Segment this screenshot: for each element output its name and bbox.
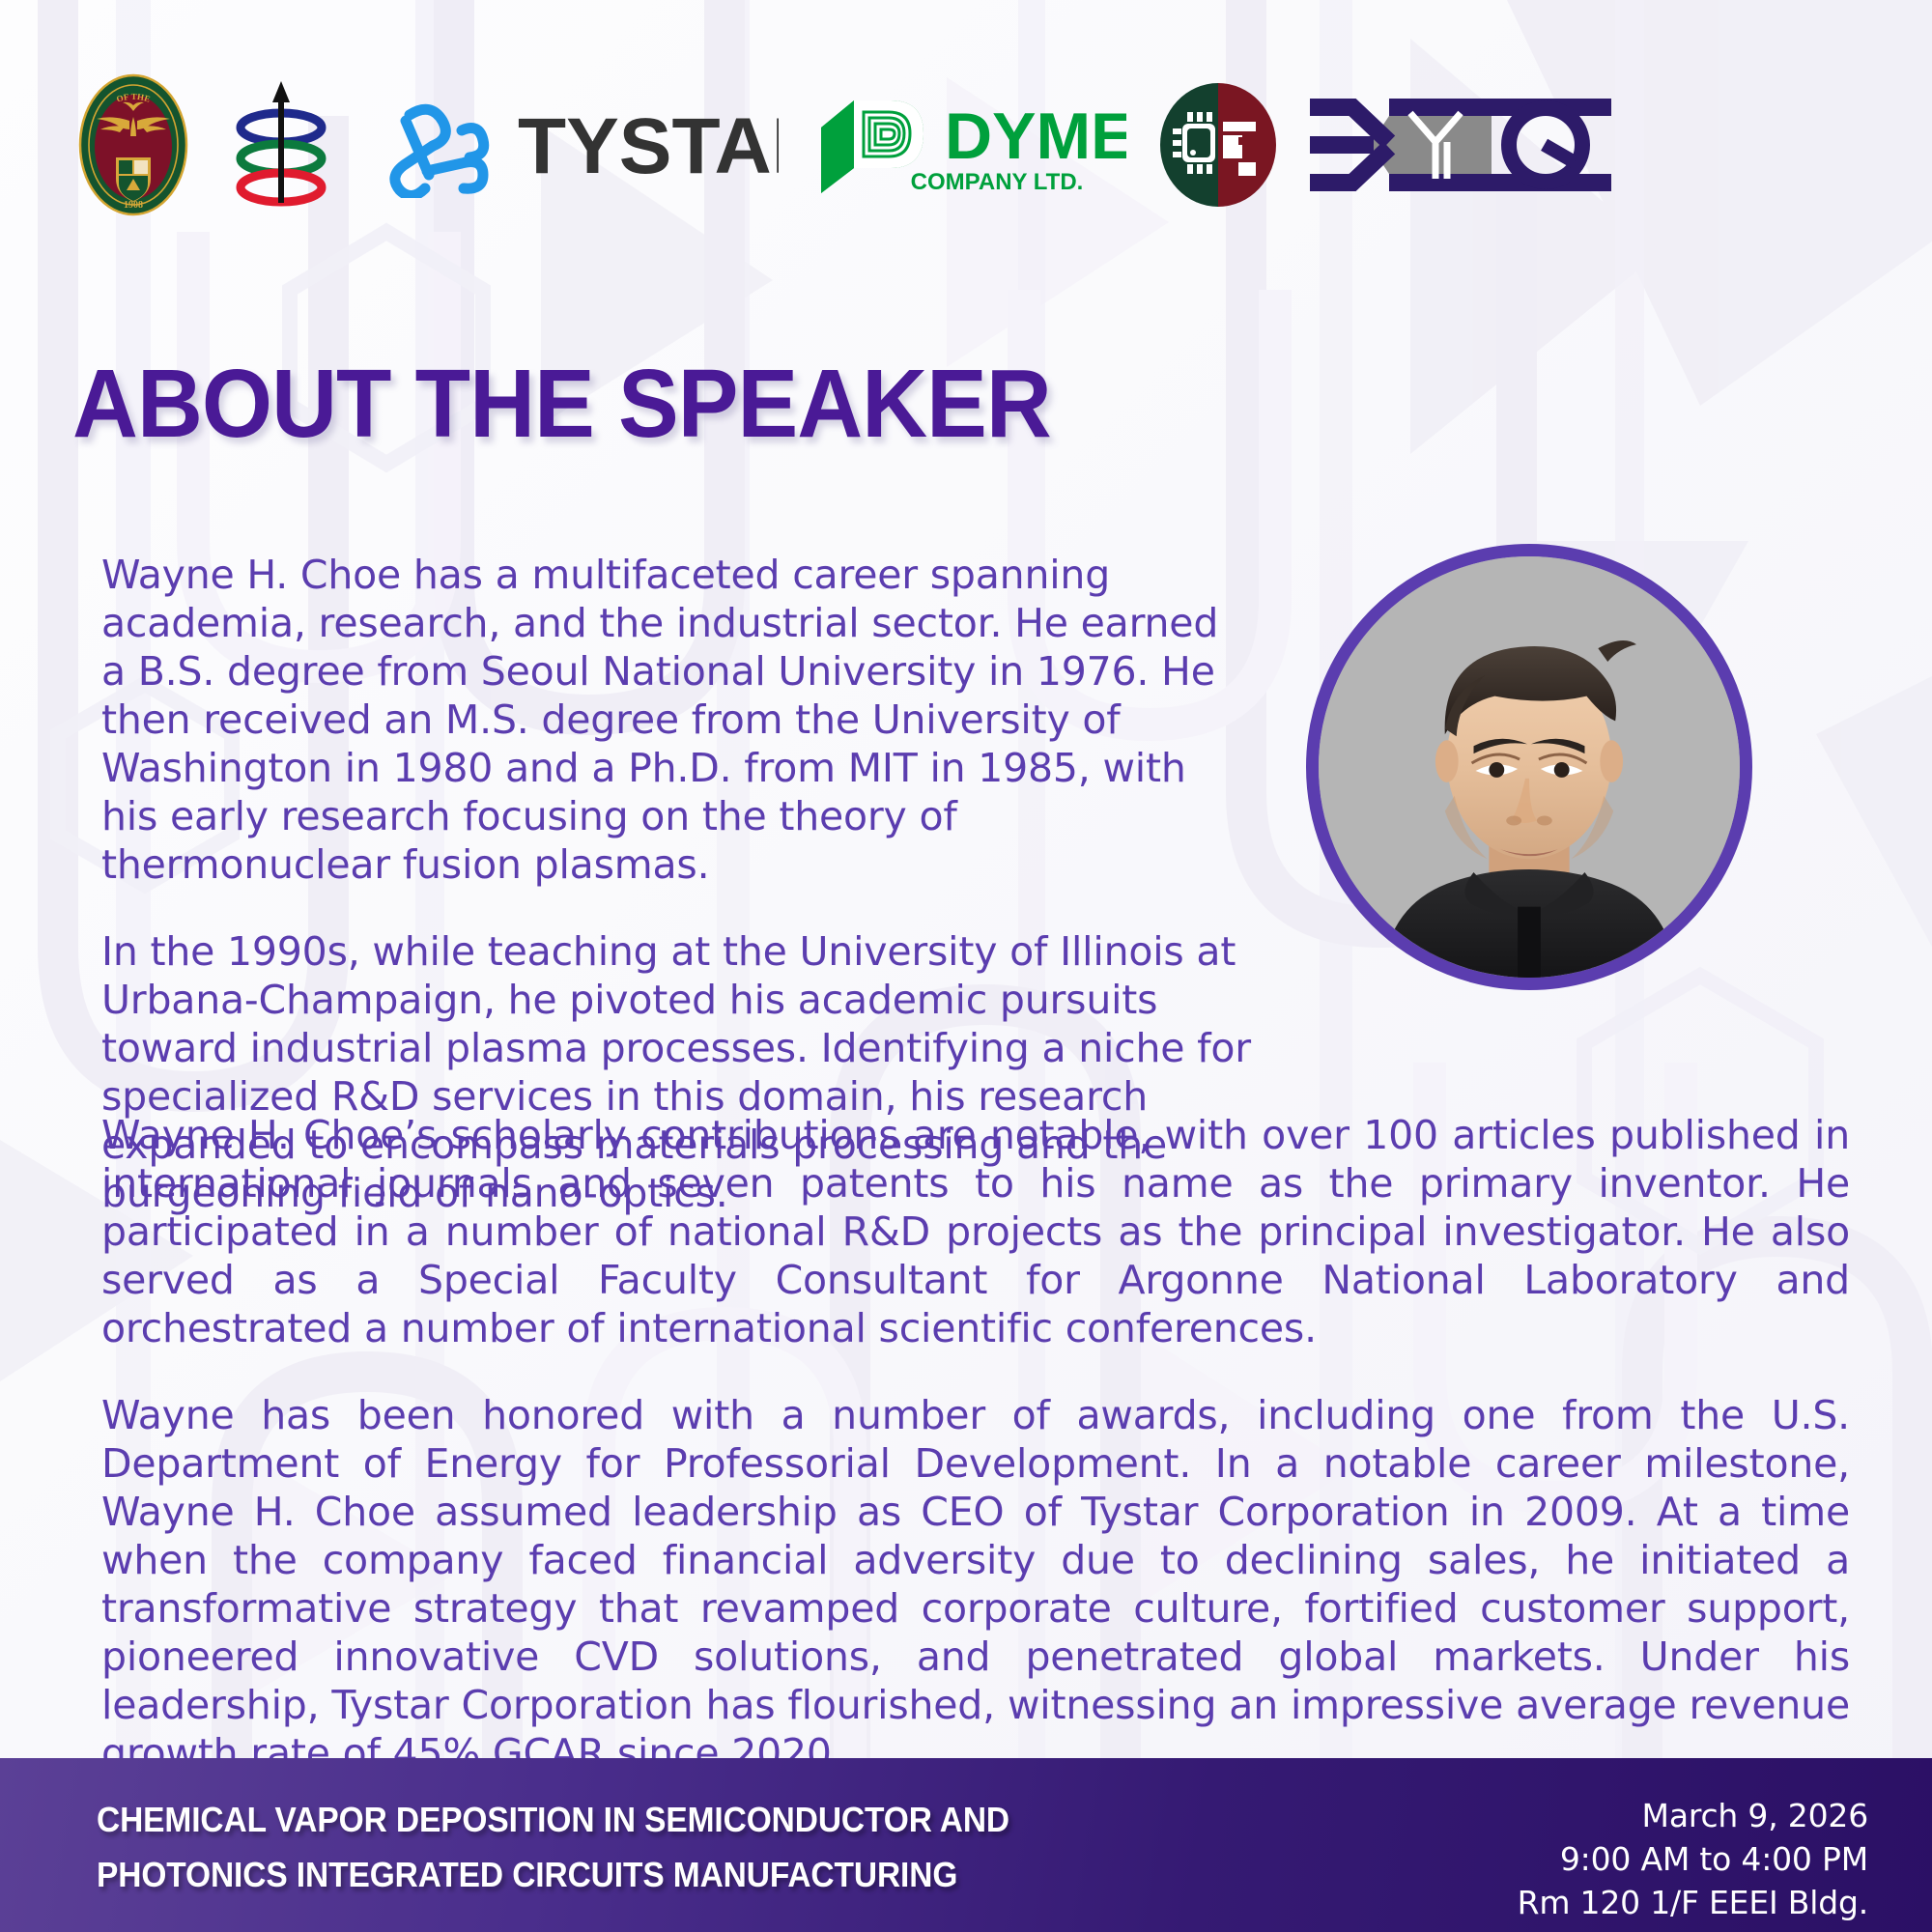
partner-logo-strip: OF THE 1908 TYSTAR xyxy=(77,68,1855,222)
bio-paragraph-4: Wayne has been honored with a number of … xyxy=(101,1391,1850,1777)
dymek-logo: DYMEK COMPANY LTD. xyxy=(808,77,1126,213)
page-title: ABOUT THE SPEAKER xyxy=(72,355,1051,452)
poster-root: OF THE 1908 TYSTAR xyxy=(0,0,1932,1932)
chip-circle-logo xyxy=(1155,77,1281,213)
footer-event-date: March 9, 2026 xyxy=(1518,1795,1868,1838)
footer-event-venue: Rm 120 1/F EEEI Bldg. xyxy=(1518,1882,1868,1925)
dymek-subtext: COMPANY LTD. xyxy=(911,169,1084,195)
tystar-logo: TYSTAR xyxy=(373,92,779,198)
speaker-portrait xyxy=(1306,544,1752,990)
bio-wide-column: Wayne H. Choe’s scholarly contributions … xyxy=(101,1111,1850,1777)
up-seal-year: 1908 xyxy=(124,200,143,211)
tystar-wordmark: TYSTAR xyxy=(518,102,779,190)
footer-event-title-line2: PHOTONICS INTEGRATED CIRCUITS MANUFACTUR… xyxy=(97,1848,1220,1903)
plasma-coil-logo xyxy=(218,77,344,213)
bio-paragraph-1: Wayne H. Choe has a multifaceted career … xyxy=(101,551,1251,889)
footer-event-details: March 9, 2026 9:00 AM to 4:00 PM Rm 120 … xyxy=(1518,1795,1868,1925)
footer-event-title-line1: CHEMICAL VAPOR DEPOSITION IN SEMICONDUCT… xyxy=(97,1793,1220,1848)
up-seal-logo: OF THE 1908 xyxy=(77,72,189,217)
dymek-wordmark: DYMEK xyxy=(945,99,1126,173)
xyq-logo xyxy=(1310,82,1619,208)
footer-event-time: 9:00 AM to 4:00 PM xyxy=(1518,1838,1868,1882)
footer-event-title: CHEMICAL VAPOR DEPOSITION IN SEMICONDUCT… xyxy=(97,1793,1220,1903)
footer-bar: CHEMICAL VAPOR DEPOSITION IN SEMICONDUCT… xyxy=(0,1758,1932,1932)
bio-paragraph-3: Wayne H. Choe’s scholarly contributions … xyxy=(101,1111,1850,1352)
